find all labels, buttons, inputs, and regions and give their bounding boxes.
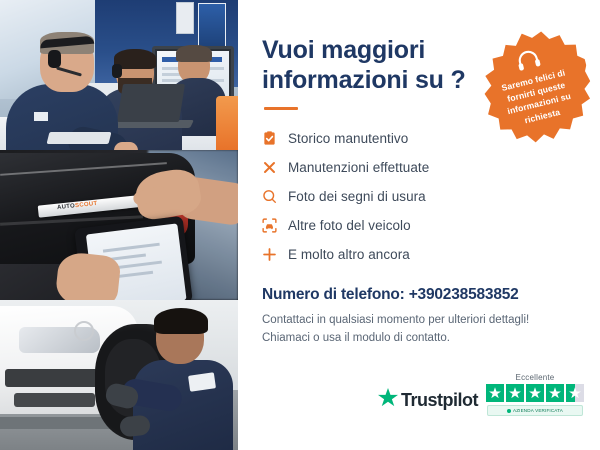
contact-line-2: Chiamaci o usa il modulo di contatto. bbox=[262, 332, 450, 344]
photo-strip: AUTOSCOUT bbox=[0, 0, 238, 450]
page-title: Vuoi maggiori informazioni su ? bbox=[262, 36, 472, 95]
phone-number-line[interactable]: Numero di telefono: +390238583852 bbox=[262, 286, 578, 304]
call-center-agents-photo bbox=[0, 0, 238, 150]
trustpilot-star-icon bbox=[378, 388, 398, 412]
car-lower-grille bbox=[14, 393, 95, 407]
magnifier-icon bbox=[262, 189, 288, 204]
star-filled bbox=[506, 384, 524, 402]
list-item-label: E molto altro ancora bbox=[288, 247, 410, 262]
list-item-label: Manutenzioni effettuate bbox=[288, 160, 429, 175]
front-keyboard bbox=[47, 132, 112, 144]
tablet-text-line bbox=[102, 243, 159, 253]
contact-description: Contattaci in qualsiasi momento per ulte… bbox=[262, 312, 578, 348]
star-filled bbox=[526, 384, 544, 402]
list-item: E molto altro ancora bbox=[262, 240, 578, 268]
mechanic-wheel-photo bbox=[0, 300, 238, 450]
orange-foreground-object bbox=[216, 96, 238, 150]
laptop-screen bbox=[117, 84, 185, 122]
car-grille bbox=[5, 369, 105, 387]
wrench-cross-icon bbox=[262, 160, 288, 175]
verified-check-icon bbox=[507, 409, 511, 413]
trustpilot-logo: Trustpilot bbox=[378, 388, 478, 416]
list-item: Altre foto del veicolo bbox=[262, 211, 578, 239]
star-rating bbox=[486, 384, 584, 402]
car-scan-frame-icon bbox=[262, 218, 288, 233]
agent-hair bbox=[176, 45, 212, 62]
verified-company-badge: AZIENDA VERIFICATA bbox=[487, 405, 583, 416]
headset-earcup bbox=[48, 50, 61, 68]
agent-hand bbox=[114, 142, 138, 150]
trustpilot-rating-block: Eccellente bbox=[486, 373, 584, 416]
star-filled bbox=[546, 384, 564, 402]
content-panel: Vuoi maggiori informazioni su ? Storico … bbox=[238, 0, 600, 450]
list-item: Manutenzioni effettuate bbox=[262, 153, 578, 181]
mechanic-hair bbox=[154, 308, 208, 334]
verified-label: AZIENDA VERIFICATA bbox=[513, 408, 563, 413]
plus-icon bbox=[262, 247, 288, 262]
trustpilot-widget[interactable]: Trustpilot Eccellente bbox=[378, 373, 584, 416]
list-item-label: Storico manutentivo bbox=[288, 131, 408, 146]
wall-poster-small bbox=[176, 2, 194, 34]
mechanic-figure bbox=[129, 309, 234, 450]
agent-name-badge bbox=[34, 112, 48, 121]
title-underline-rule bbox=[264, 107, 298, 110]
star-filled bbox=[486, 384, 504, 402]
list-item: Foto dei segni di usura bbox=[262, 182, 578, 210]
uniform-logo-patch bbox=[188, 372, 216, 391]
list-item-label: Foto dei segni di usura bbox=[288, 189, 426, 204]
contact-line-1: Contattaci in qualsiasi momento per ulte… bbox=[262, 314, 529, 326]
car-emblem bbox=[74, 321, 94, 341]
list-item-label: Altre foto del veicolo bbox=[288, 218, 411, 233]
info-request-banner: AUTOSCOUT bbox=[0, 0, 600, 450]
star-half bbox=[566, 384, 584, 402]
clipboard-check-icon bbox=[262, 131, 288, 146]
feature-list: Storico manutentivo Manutenzioni effettu… bbox=[262, 124, 578, 268]
car-inspection-tablet-photo: AUTOSCOUT bbox=[0, 150, 238, 300]
trustpilot-wordmark: Trustpilot bbox=[401, 390, 478, 411]
rating-label: Eccellente bbox=[516, 373, 555, 382]
